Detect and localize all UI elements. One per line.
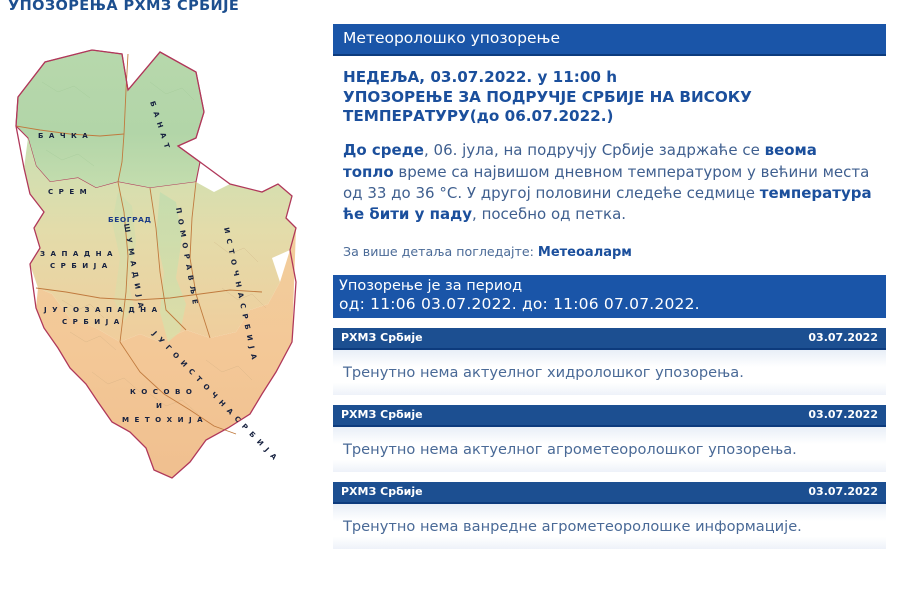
map-label-zapadna-srbija-2: С Р Б И Ј А (50, 261, 109, 270)
meteo-warning-header: Метеоролошко упозорење (333, 24, 886, 56)
agro-info-notice-date: 03.07.2022 (808, 485, 878, 498)
map-label-kosovo-3: М Е Т О Х И Ј А (122, 415, 204, 424)
agro-info-notice: РХМЗ Србије 03.07.2022 Тренутно нема ван… (333, 482, 886, 549)
warning-period-bar: Упозорење је за период од: 11:06 03.07.2… (333, 275, 886, 318)
meteoalarm-link[interactable]: Метеоаларм (538, 245, 632, 260)
map-region-north (16, 50, 204, 188)
hydrological-notice: РХМЗ Србије 03.07.2022 Тренутно нема акт… (333, 328, 886, 395)
meteo-text-part-1: , 06. јула, на подручју Србије задржаће … (424, 141, 765, 159)
agrometeorological-notice-text: Тренутно нема актуелног агрометеоролошко… (333, 427, 886, 472)
map-label-kosovo-2: И (156, 401, 163, 410)
map-label-zapadna-srbija-1: З А П А Д Н А (40, 249, 114, 258)
hydrological-notice-text: Тренутно нема актуелног хидролошког упоз… (333, 350, 886, 395)
meteo-title-line-1: НЕДЕЉА, 03.07.2022. у 11:00 h (343, 68, 617, 86)
hydrological-notice-source: РХМЗ Србије (341, 331, 423, 344)
map-svg: Б А Ч К А Б А Н А Т С Р Е М БЕОГРАД З А … (0, 42, 320, 492)
hydrological-notice-bar: РХМЗ Србије 03.07.2022 (333, 328, 886, 350)
meteo-warning-text: До среде, 06. јула, на подручју Србије з… (343, 140, 872, 225)
agro-info-notice-bar: РХМЗ Србије 03.07.2022 (333, 482, 886, 504)
meteo-more-details: За више детаља погледајте: Метеоаларм (343, 244, 872, 260)
page-title: УПОЗОРЕЊА РХМЗ СРБИЈЕ (8, 0, 239, 14)
meteo-text-bold-1: До среде (343, 141, 424, 159)
serbia-regions-map[interactable]: Б А Ч К А Б А Н А Т С Р Е М БЕОГРАД З А … (0, 42, 320, 492)
agrometeorological-notice: РХМЗ Србије 03.07.2022 Тренутно нема акт… (333, 405, 886, 472)
agrometeorological-notice-source: РХМЗ Србије (341, 408, 423, 421)
map-label-jugozapadna-srbija-1: Ј У Г О З А П А Д Н А (43, 305, 159, 314)
hydrological-notice-date: 03.07.2022 (808, 331, 878, 344)
meteo-title-line-3: ТЕМПЕРАТУРУ(до 06.07.2022.) (343, 107, 613, 125)
meteo-text-part-3: , посебно од петка. (472, 205, 626, 223)
meteo-more-prefix: За више детаља погледајте: (343, 244, 538, 259)
map-label-jugozapadna-srbija-2: С Р Б И Ј А (62, 317, 121, 326)
map-label-kosovo-1: К О С О В О (130, 387, 193, 396)
map-label-srem: С Р Е М (48, 187, 88, 196)
meteo-title-line-2: УПОЗОРЕЊЕ ЗА ПОДРУЧЈЕ СРБИЈЕ НА ВИСОКУ (343, 88, 752, 106)
meteo-warning-title: НЕДЕЉА, 03.07.2022. у 11:00 h УПОЗОРЕЊЕ … (343, 68, 872, 126)
warning-period-range: од: 11:06 03.07.2022. до: 11:06 07.07.20… (339, 295, 886, 314)
agrometeorological-notice-bar: РХМЗ Србије 03.07.2022 (333, 405, 886, 427)
warning-period-label: Упозорење је за период (339, 278, 886, 295)
warnings-content-column: Метеоролошко упозорење НЕДЕЉА, 03.07.202… (333, 24, 886, 549)
agrometeorological-notice-date: 03.07.2022 (808, 408, 878, 421)
agro-info-notice-text: Тренутно нема ванредне агрометеоролошке … (333, 504, 886, 549)
meteo-warning-card: Метеоролошко упозорење НЕДЕЉА, 03.07.202… (333, 24, 886, 318)
map-label-backa: Б А Ч К А (38, 131, 89, 140)
meteo-warning-body: НЕДЕЉА, 03.07.2022. у 11:00 h УПОЗОРЕЊЕ … (333, 56, 886, 275)
agro-info-notice-source: РХМЗ Србије (341, 485, 423, 498)
